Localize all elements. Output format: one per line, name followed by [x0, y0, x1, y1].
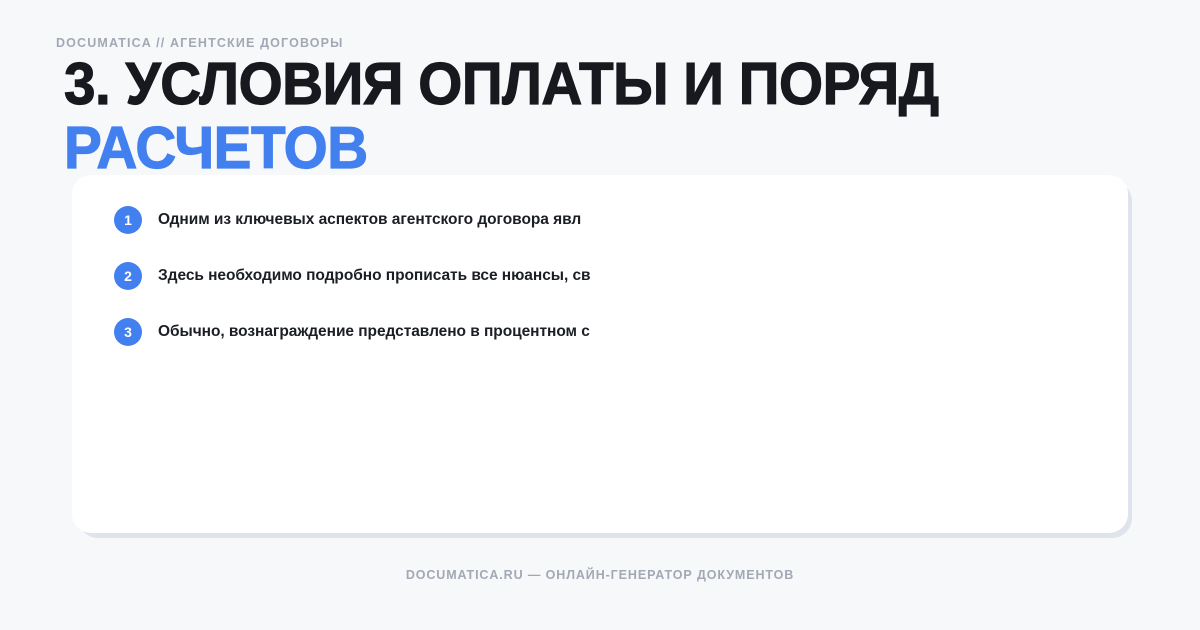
breadcrumb: DOCUMATICA // АГЕНТСКИЕ ДОГОВОРЫ [56, 37, 344, 50]
page-title-line-1: 3. УСЛОВИЯ ОПЛАТЫ И ПОРЯД [64, 52, 1101, 116]
list-item: 1 Одним из ключевых аспектов агентского … [114, 206, 1088, 234]
list-item: 3 Обычно, вознаграждение представлено в … [114, 318, 1088, 346]
slide-canvas: DOCUMATICA // АГЕНТСКИЕ ДОГОВОРЫ 3. УСЛО… [0, 0, 1200, 630]
list-item: 2 Здесь необходимо подробно прописать вс… [114, 262, 1088, 290]
content-card: 1 Одним из ключевых аспектов агентского … [72, 175, 1128, 533]
page-title-line-2: РАСЧЕТОВ [64, 116, 1101, 180]
list-item-number-badge: 3 [114, 318, 142, 346]
footer-text: DOCUMATICA.RU — ОНЛАЙН-ГЕНЕРАТОР ДОКУМЕН… [0, 569, 1200, 582]
list-item-number-badge: 1 [114, 206, 142, 234]
list-item-label: Одним из ключевых аспектов агентского до… [158, 210, 581, 230]
page-title: 3. УСЛОВИЯ ОПЛАТЫ И ПОРЯД РАСЧЕТОВ [64, 52, 1101, 180]
list-item-number-badge: 2 [114, 262, 142, 290]
list-item-label: Обычно, вознаграждение представлено в пр… [158, 322, 590, 342]
list-item-label: Здесь необходимо подробно прописать все … [158, 266, 591, 286]
points-list: 1 Одним из ключевых аспектов агентского … [114, 206, 1088, 374]
